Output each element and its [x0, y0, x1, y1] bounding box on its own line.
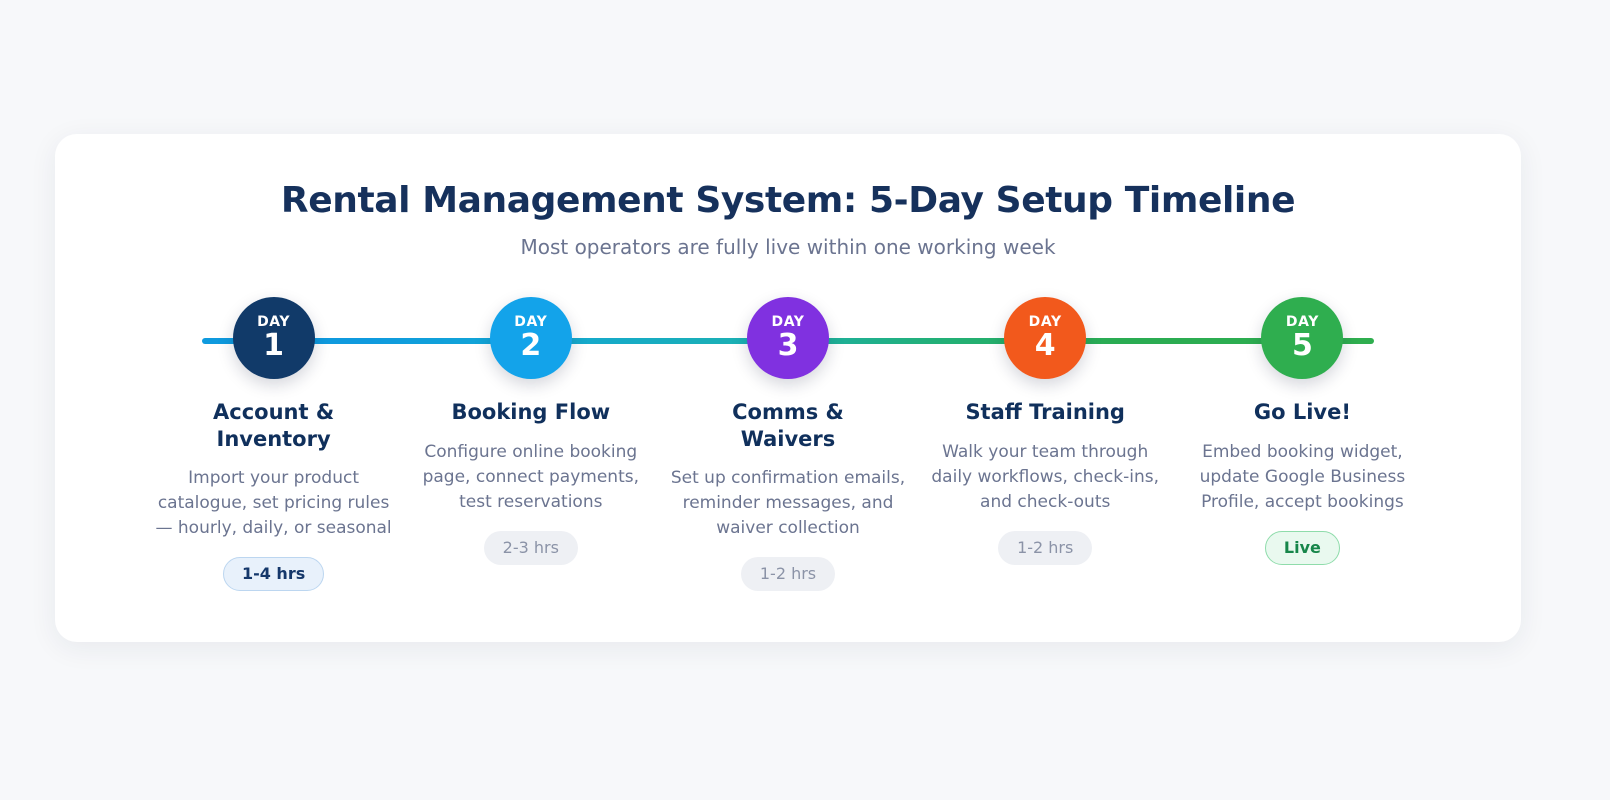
- day-node[interactable]: DAY4: [1004, 297, 1086, 379]
- timeline-card: Rental Management System: 5-Day Setup Ti…: [55, 134, 1521, 642]
- timeline-step[interactable]: DAY2Booking FlowConfigure online booking…: [402, 297, 659, 591]
- step-title: Go Live!: [1254, 399, 1351, 425]
- duration-badge: 1-2 hrs: [741, 557, 835, 591]
- page-title: Rental Management System: 5-Day Setup Ti…: [55, 180, 1521, 221]
- day-node[interactable]: DAY5: [1261, 297, 1343, 379]
- day-node[interactable]: DAY1: [233, 297, 315, 379]
- status-badge: Live: [1265, 531, 1340, 565]
- duration-badge: 1-4 hrs: [223, 557, 324, 591]
- day-number: 2: [520, 331, 541, 361]
- step-description: Set up confirmation emails, reminder mes…: [662, 466, 914, 541]
- day-number: 4: [1035, 331, 1056, 361]
- timeline: DAY1Account & InventoryImport your produ…: [55, 297, 1521, 591]
- timeline-steps: DAY1Account & InventoryImport your produ…: [145, 297, 1431, 591]
- step-title: Booking Flow: [451, 399, 610, 425]
- step-title: Comms & Waivers: [688, 399, 888, 452]
- day-label: DAY: [771, 315, 804, 329]
- day-label: DAY: [1286, 315, 1319, 329]
- day-node[interactable]: DAY2: [490, 297, 572, 379]
- timeline-step[interactable]: DAY4Staff TrainingWalk your team through…: [917, 297, 1174, 591]
- step-description: Import your product catalogue, set prici…: [148, 466, 400, 541]
- step-title: Staff Training: [965, 399, 1125, 425]
- step-description: Configure online booking page, connect p…: [405, 440, 657, 515]
- timeline-step[interactable]: DAY5Go Live!Embed booking widget, update…: [1174, 297, 1431, 591]
- timeline-step[interactable]: DAY3Comms & WaiversSet up confirmation e…: [659, 297, 916, 591]
- step-title: Account & Inventory: [174, 399, 374, 452]
- card-header: Rental Management System: 5-Day Setup Ti…: [55, 134, 1521, 259]
- timeline-step[interactable]: DAY1Account & InventoryImport your produ…: [145, 297, 402, 591]
- day-node[interactable]: DAY3: [747, 297, 829, 379]
- page-subtitle: Most operators are fully live within one…: [55, 235, 1521, 259]
- day-label: DAY: [514, 315, 547, 329]
- duration-badge: 2-3 hrs: [484, 531, 578, 565]
- step-description: Walk your team through daily workflows, …: [919, 440, 1171, 515]
- day-number: 5: [1292, 331, 1313, 361]
- day-label: DAY: [1029, 315, 1062, 329]
- day-label: DAY: [257, 315, 290, 329]
- day-number: 3: [778, 331, 799, 361]
- duration-badge: 1-2 hrs: [998, 531, 1092, 565]
- day-number: 1: [263, 331, 284, 361]
- step-description: Embed booking widget, update Google Busi…: [1176, 440, 1428, 515]
